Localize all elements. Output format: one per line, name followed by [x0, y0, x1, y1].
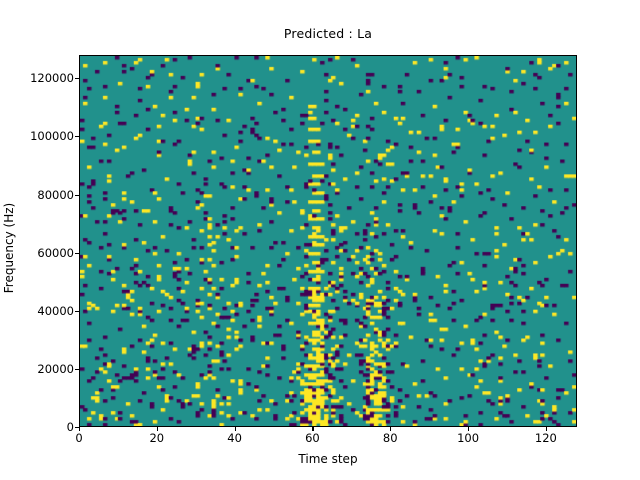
x-tick-label: 120 [516, 431, 576, 445]
x-tick-mark [546, 427, 547, 431]
y-tick-label: 100000 [4, 129, 74, 143]
y-axis-label: Frequency (Hz) [2, 183, 16, 313]
y-tick-mark [75, 253, 79, 254]
x-tick-label: 80 [360, 431, 420, 445]
x-tick-mark [235, 427, 236, 431]
y-tick-mark [75, 136, 79, 137]
heatmap-axes [79, 55, 577, 427]
y-tick-mark [75, 369, 79, 370]
y-tick-label: 120000 [4, 71, 74, 85]
y-tick-mark [75, 78, 79, 79]
x-tick-label: 20 [127, 431, 187, 445]
x-tick-mark [157, 427, 158, 431]
x-tick-mark [468, 427, 469, 431]
y-tick-mark [75, 195, 79, 196]
x-tick-label: 40 [205, 431, 265, 445]
x-tick-mark [312, 427, 313, 431]
page-title: Predicted : La [79, 26, 577, 41]
x-axis-label: Time step [79, 452, 577, 466]
x-tick-mark [79, 427, 80, 431]
y-tick-mark [75, 311, 79, 312]
y-tick-label: 20000 [4, 362, 74, 376]
heatmap-canvas [80, 56, 576, 426]
x-tick-label: 60 [282, 431, 342, 445]
x-tick-label: 100 [438, 431, 498, 445]
matplotlib-figure: Predicted : La 0200004000060000800001000… [0, 0, 640, 480]
x-tick-mark [390, 427, 391, 431]
x-tick-label: 0 [49, 431, 109, 445]
